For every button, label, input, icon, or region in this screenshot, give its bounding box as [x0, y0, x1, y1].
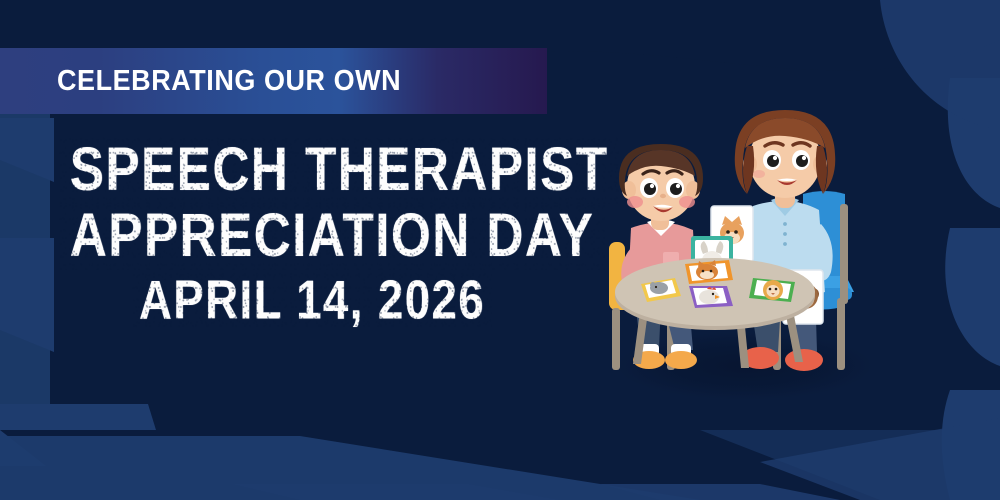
headline-line-2: APPRECIATION DAY [70, 206, 555, 266]
headline-line-1-text: SPEECH THERAPIST [70, 140, 609, 200]
hen-card [689, 286, 733, 308]
celebration-ribbon: CELEBRATING OUR OWN [0, 48, 547, 114]
headline-line-2-text: APPRECIATION DAY [70, 206, 594, 266]
fox-card [685, 260, 733, 284]
headline-date-line: APRIL 14, 2026 [70, 275, 555, 328]
therapist-shoe-right [785, 349, 823, 371]
lion-card [749, 278, 795, 302]
therapy-session-illustration [585, 88, 895, 408]
headline-line-1: SPEECH THERAPIST [70, 140, 555, 200]
appreciation-day-poster: CELEBRATING OUR OWN SPEECH THERAPIST APP… [0, 0, 1000, 500]
child-shoe-right [665, 351, 697, 369]
ribbon-label: CELEBRATING OUR OWN [57, 65, 401, 98]
headline-date-text: APRIL 14, 2026 [139, 275, 485, 328]
headline-block: SPEECH THERAPIST APPRECIATION DAY APRIL … [57, 140, 567, 321]
